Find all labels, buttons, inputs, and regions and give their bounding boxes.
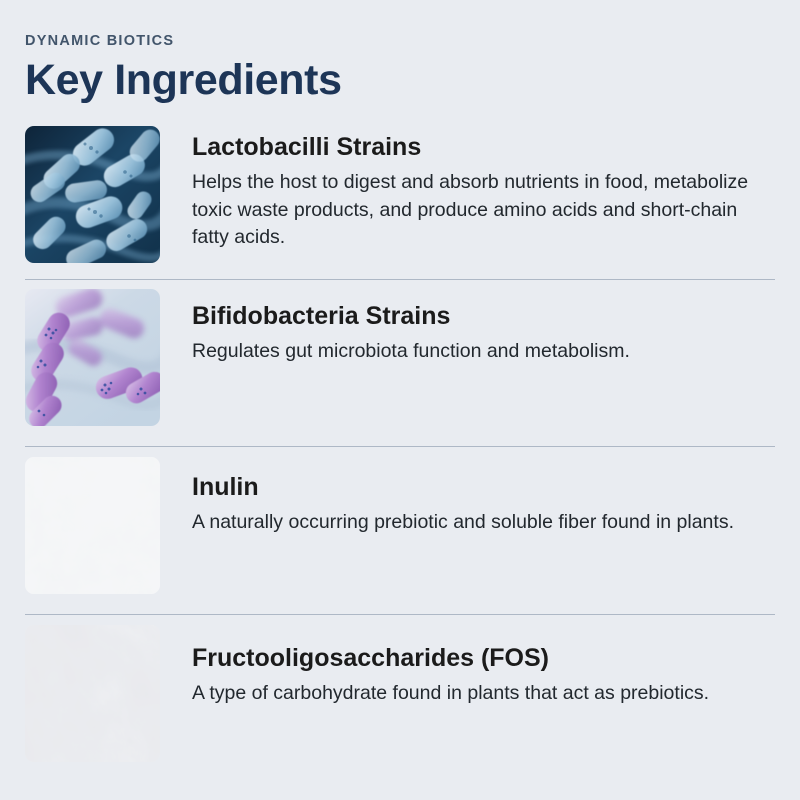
bifidobacteria-microscopy-photo <box>25 289 160 426</box>
ingredient-item: Bifidobacteria Strains Regulates gut mic… <box>0 289 800 426</box>
ingredient-title: Bifidobacteria Strains <box>192 302 776 331</box>
ingredient-description: Helps the host to digest and absorb nutr… <box>192 169 772 252</box>
lactobacilli-microscopy-photo <box>25 126 160 263</box>
ingredient-item: Lactobacilli Strains Helps the host to d… <box>0 126 800 263</box>
ingredient-text-block: Fructooligosaccharides (FOS) A type of c… <box>192 625 776 707</box>
brand-eyebrow: DYNAMIC BIOTICS <box>25 34 776 50</box>
ingredient-text-block: Bifidobacteria Strains Regulates gut mic… <box>192 289 776 365</box>
inulin-powder-photo <box>25 457 160 594</box>
ingredient-description: Regulates gut microbiota function and me… <box>192 338 772 366</box>
ingredient-description: A naturally occurring prebiotic and solu… <box>192 509 772 537</box>
ingredient-description: A type of carbohydrate found in plants t… <box>192 680 772 708</box>
key-ingredients-page: DYNAMIC BIOTICS Key Ingredients <box>0 0 800 800</box>
ingredient-item: Fructooligosaccharides (FOS) A type of c… <box>0 625 800 762</box>
ingredient-item: Inulin A naturally occurring prebiotic a… <box>0 457 800 594</box>
ingredient-text-block: Inulin A naturally occurring prebiotic a… <box>192 457 776 536</box>
ingredient-title: Lactobacilli Strains <box>192 133 776 162</box>
ingredient-title: Inulin <box>192 473 776 502</box>
fos-powder-photo <box>25 625 160 762</box>
page-title: Key Ingredients <box>25 58 776 103</box>
ingredient-title: Fructooligosaccharides (FOS) <box>192 644 776 673</box>
page-header: DYNAMIC BIOTICS Key Ingredients <box>0 0 800 103</box>
ingredient-list: Lactobacilli Strains Helps the host to d… <box>0 126 800 762</box>
ingredient-text-block: Lactobacilli Strains Helps the host to d… <box>192 126 776 252</box>
